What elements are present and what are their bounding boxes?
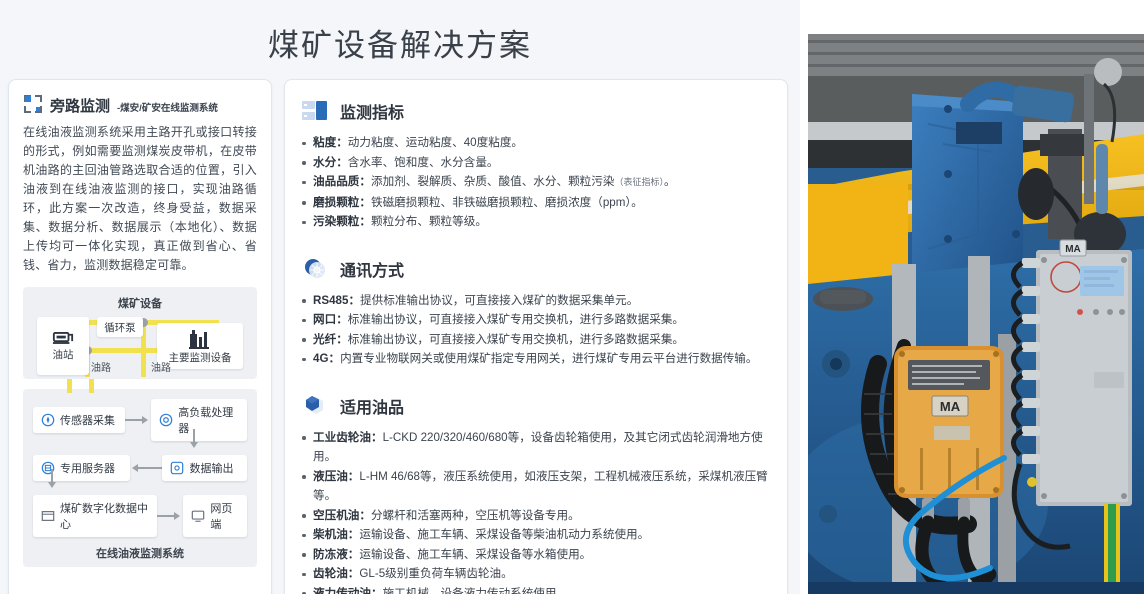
flow-node-sensor-collect: 传感器采集 — [33, 407, 125, 433]
item-label: RS485： — [313, 294, 360, 307]
section-title-communication: 通讯方式 — [340, 257, 404, 281]
arrow-output-to-server — [130, 463, 162, 473]
item-label: 油品品质： — [313, 175, 371, 188]
pipe-label-left: 油路 — [91, 359, 111, 374]
item-text: 施工机械、设备液力传动系统使用。 — [383, 587, 569, 594]
section-communication: 通讯方式 RS485：提供标准输出协议，可直接接入煤矿的数据采集单元。 网口：标… — [301, 256, 771, 369]
item-label: 4G： — [313, 352, 340, 365]
diagram-equipment-group: 煤矿设备 — [23, 287, 257, 379]
web-client-label: 网页端 — [210, 500, 239, 532]
item-text: GL-5级别重负荷车辆齿轮油。 — [359, 567, 512, 580]
item-label: 水分： — [313, 156, 348, 169]
feed-pipe-b — [89, 379, 94, 393]
list-item: 粘度：动力粘度、运动粘度、40度粘度。 — [301, 133, 771, 153]
list-item: 油品品质：添加剂、裂解质、杂质、酸值、水分、颗粒污染（表征指标）。 — [301, 172, 771, 193]
circulation-pump-label: 循环泵 — [104, 320, 136, 335]
monitor-icon — [191, 509, 205, 523]
item-label: 污染颗粒： — [313, 215, 371, 228]
data-center-icon — [41, 509, 55, 523]
server-rack-icon — [301, 98, 331, 124]
item-text: 分螺杆和活塞两种，空压机等设备专用。 — [371, 509, 580, 522]
diagram-node-circulation-pump: 循环泵 — [97, 317, 143, 337]
item-tail: 。 — [664, 175, 676, 188]
flow-row-3: 煤矿数字化数据中心 网页端 — [33, 495, 247, 537]
list-item: 污染颗粒：颗粒分布、颗粒等级。 — [301, 212, 771, 232]
flow-node-high-load-processor: 高负载处理器 — [151, 399, 247, 441]
list-item: 液压油：L-HM 46/68等，液压系统使用，如液压支架，工程机械液压系统，采煤… — [301, 467, 771, 506]
item-label: 齿轮油： — [313, 567, 359, 580]
left-card-title: 旁路监测 — [50, 99, 110, 114]
dedicated-server-label: 专用服务器 — [60, 460, 115, 476]
section-header-applicable-oils: 适用油品 — [301, 393, 771, 419]
oil-tank-icon — [52, 330, 74, 345]
equipment-photo-illustration: MA MA — [808, 34, 1144, 594]
hexagon-cube-icon — [301, 393, 331, 419]
spacer-2 — [301, 373, 771, 389]
list-item: 网口：标准输出协议，可直接接入煤矿专用交换机，进行多路数据采集。 — [301, 310, 771, 330]
item-text: 动力粘度、运动粘度、40度粘度。 — [348, 136, 523, 149]
photo-pane: MA MA — [800, 0, 1144, 594]
cards-row: 旁路监测 -煤安/矿安在线监测系统 在线油液监测系统采用主路开孔或接口转接的形式… — [0, 79, 800, 594]
factory-equipment-icon — [188, 327, 212, 349]
item-text: 添加剂、裂解质、杂质、酸值、水分、颗粒污染 — [371, 175, 614, 188]
sensor-collect-label: 传感器采集 — [60, 412, 115, 428]
list-item: 水分：含水率、饱和度、水分含量。 — [301, 153, 771, 173]
flow-node-data-output: 数据输出 — [162, 455, 247, 481]
oils-list: 工业齿轮油：L-CKD 220/320/460/680等，设备齿轮箱使用，及其它… — [301, 428, 771, 594]
diagram-monitoring-group: 传感器采集 高负载处理器 — [23, 389, 257, 567]
list-item: 4G：内置专业物联网关或使用煤矿指定专用网关，进行煤矿专用云平台进行数据传输。 — [301, 349, 771, 369]
list-item: 空压机油：分螺杆和活塞两种，空压机等设备专用。 — [301, 506, 771, 526]
diagram-top-title: 煤矿设备 — [33, 295, 247, 311]
item-text: 标准输出协议，可直接接入煤矿专用交换机，进行多路数据采集。 — [348, 313, 684, 326]
item-label: 工业齿轮油： — [313, 431, 383, 444]
list-item: 工业齿轮油：L-CKD 220/320/460/680等，设备齿轮箱使用，及其它… — [301, 428, 771, 467]
list-item: 磨损颗粒：铁磁磨损颗粒、非铁磁磨损颗粒、磨损浓度（ppm）。 — [301, 193, 771, 213]
item-label: 网口： — [313, 313, 348, 326]
flow-row-2: 专用服务器 数据输出 — [33, 455, 247, 481]
content-area: 煤矿设备解决方案 旁路监测 -煤安/矿安在线监测系统 在线油液监测系统采用主路开… — [0, 0, 800, 594]
system-diagram: 煤矿设备 — [23, 287, 257, 567]
diagram-node-oil-station: 油站 — [37, 317, 89, 375]
item-note: （表征指标） — [614, 177, 664, 187]
arrow-server-to-datacenter — [47, 469, 57, 489]
arrow-sensor-to-processor — [125, 415, 151, 425]
item-label: 粘度： — [313, 136, 348, 149]
item-label: 空压机油： — [313, 509, 371, 522]
section-applicable-oils: 适用油品 工业齿轮油：L-CKD 220/320/460/680等，设备齿轮箱使… — [301, 393, 771, 594]
pipe-label-right: 油路 — [151, 359, 171, 374]
section-header-monitoring-metrics: 监测指标 — [301, 98, 771, 124]
item-text: 运输设备、施工车辆、采煤设备等柴油机动力系统使用。 — [359, 528, 649, 541]
flow-node-digital-data-center: 煤矿数字化数据中心 — [33, 495, 157, 537]
main-device-label: 主要监测设备 — [169, 350, 232, 365]
metrics-list: 粘度：动力粘度、运动粘度、40度粘度。 水分：含水率、饱和度、水分含量。 油品品… — [301, 133, 771, 232]
item-label: 磨损颗粒： — [313, 196, 371, 209]
item-label: 防冻液： — [313, 548, 359, 561]
scan-corners-icon — [23, 94, 43, 114]
sensor-icon — [41, 413, 55, 427]
item-label: 柴机油： — [313, 528, 359, 541]
bypass-monitoring-card: 旁路监测 -煤安/矿安在线监测系统 在线油液监测系统采用主路开孔或接口转接的形式… — [8, 79, 272, 594]
page-root: 煤矿设备解决方案 旁路监测 -煤安/矿安在线监测系统 在线油液监测系统采用主路开… — [0, 0, 1144, 594]
spacer-1 — [301, 236, 771, 252]
diagram-bottom-title: 在线油液监测系统 — [33, 545, 247, 561]
oil-station-label: 油站 — [53, 347, 74, 362]
list-item: RS485：提供标准输出协议，可直接接入煤矿的数据采集单元。 — [301, 291, 771, 311]
section-monitoring-metrics: 监测指标 粘度：动力粘度、运动粘度、40度粘度。 水分：含水率、饱和度、水分含量… — [301, 98, 771, 232]
section-header-communication: 通讯方式 — [301, 256, 771, 282]
high-load-processor-label: 高负载处理器 — [178, 404, 239, 436]
left-card-header: 旁路监测 -煤安/矿安在线监测系统 — [23, 94, 257, 114]
processor-icon — [159, 413, 173, 427]
flow-node-web-client: 网页端 — [183, 495, 247, 537]
page-title: 煤矿设备解决方案 — [0, 0, 800, 79]
item-text: 含水率、饱和度、水分含量。 — [348, 156, 499, 169]
list-item: 防冻液：运输设备、施工车辆、采煤设备等水箱使用。 — [301, 545, 771, 565]
digital-data-center-label: 煤矿数字化数据中心 — [60, 500, 149, 532]
section-title-monitoring-metrics: 监测指标 — [340, 99, 404, 123]
item-text: 铁磁磨损颗粒、非铁磁磨损颗粒、磨损浓度（ppm）。 — [371, 196, 643, 209]
specs-card: 监测指标 粘度：动力粘度、运动粘度、40度粘度。 水分：含水率、饱和度、水分含量… — [284, 79, 788, 594]
diagram-top-row: 油站 循环泵 — [33, 315, 247, 377]
item-label: 光纤： — [313, 333, 348, 346]
item-text: 标准输出协议，可直接接入煤矿专用交换机，进行多路数据采集。 — [348, 333, 684, 346]
section-title-applicable-oils: 适用油品 — [340, 394, 404, 418]
data-output-label: 数据输出 — [189, 460, 233, 476]
left-card-body-text: 在线油液监测系统采用主路开孔或接口转接的形式，例如需要监测煤炭皮带机，在皮带机油… — [23, 123, 257, 275]
item-label: 液力传动油： — [313, 587, 383, 594]
item-text: 提供标准输出协议，可直接接入煤矿的数据采集单元。 — [360, 294, 638, 307]
feed-pipe-a — [67, 379, 72, 393]
item-text: 运输设备、施工车辆、采煤设备等水箱使用。 — [359, 548, 591, 561]
communication-list: RS485：提供标准输出协议，可直接接入煤矿的数据采集单元。 网口：标准输出协议… — [301, 291, 771, 369]
item-text: 颗粒分布、颗粒等级。 — [371, 215, 487, 228]
ma-label-enclosure: MA — [940, 399, 961, 414]
left-card-subtitle: -煤安/矿安在线监测系统 — [117, 104, 218, 115]
list-item: 柴机油：运输设备、施工车辆、采煤设备等柴油机动力系统使用。 — [301, 525, 771, 545]
flow-row-1: 传感器采集 高负载处理器 — [33, 399, 247, 441]
list-item: 光纤：标准输出协议，可直接接入煤矿专用交换机，进行多路数据采集。 — [301, 330, 771, 350]
arrow-processor-to-output — [189, 429, 199, 449]
item-label: 液压油： — [313, 470, 359, 483]
item-text: L-HM 46/68等，液压系统使用，如液压支架，工程机械液压系统，采煤机液压臂… — [313, 470, 768, 503]
list-item: 液力传动油：施工机械、设备液力传动系统使用。 — [301, 584, 771, 594]
ma-label-panel: MA — [1065, 244, 1081, 255]
equipment-photo: MA MA — [808, 34, 1144, 594]
list-item: 齿轮油：GL-5级别重负荷车辆齿轮油。 — [301, 564, 771, 584]
sphere-network-icon — [301, 256, 331, 282]
arrow-datacenter-to-web — [157, 511, 183, 521]
data-output-icon — [170, 461, 184, 475]
item-text: 内置专业物联网关或使用煤矿指定专用网关，进行煤矿专用云平台进行数据传输。 — [340, 352, 757, 365]
